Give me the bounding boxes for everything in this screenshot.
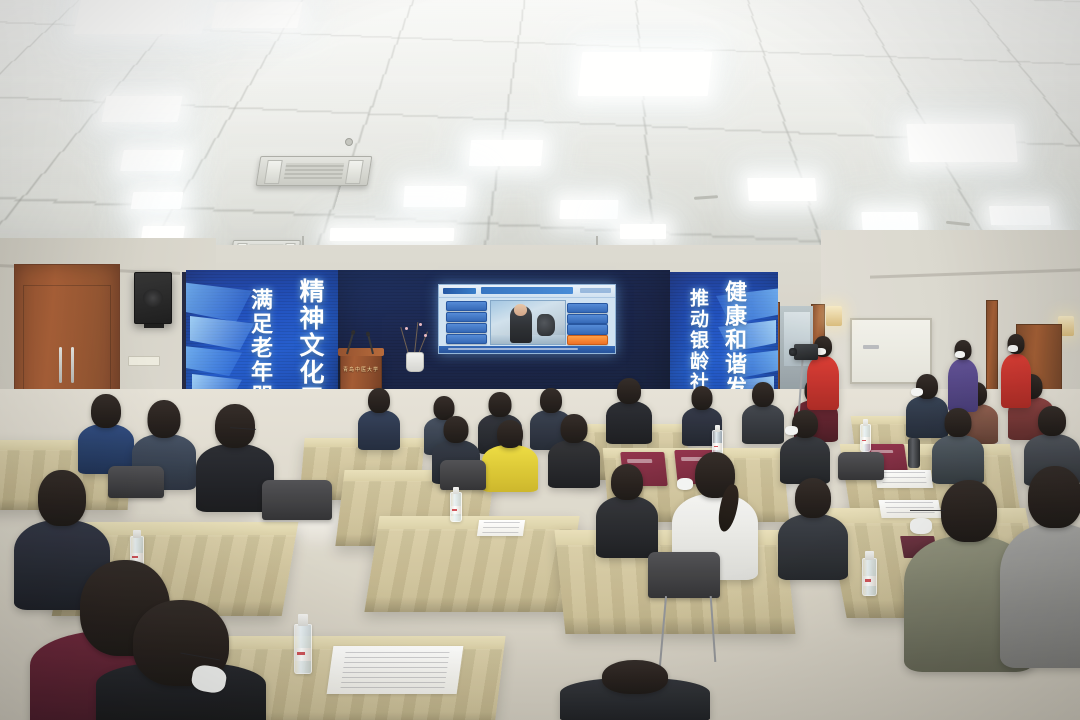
attendee-head	[561, 414, 588, 443]
attendee	[742, 382, 784, 442]
chair-backrest	[838, 452, 884, 480]
attendee-body	[1000, 524, 1080, 668]
attendee-head	[540, 388, 562, 413]
blossom-icon	[405, 327, 408, 330]
attendee-head	[489, 392, 512, 417]
bottle-label	[295, 648, 311, 660]
screen-left-button-1[interactable]	[446, 301, 487, 311]
ceiling-light-panel	[403, 186, 466, 207]
screen-title-bar	[481, 287, 573, 295]
attendee-foreground-right	[560, 660, 710, 720]
attendee-head	[692, 386, 713, 410]
ceiling-light-panel	[211, 2, 303, 28]
attendee-head	[148, 400, 181, 438]
attendee-body	[778, 514, 848, 580]
camera-lens-icon	[789, 348, 797, 356]
eyeglasses	[910, 510, 944, 513]
attendee-head	[611, 464, 643, 500]
ceiling-ac-vent-icon	[256, 156, 373, 186]
screen-header	[439, 285, 615, 298]
attendee-head	[91, 394, 121, 428]
wall-plaque	[128, 356, 160, 366]
chair[interactable]	[440, 460, 486, 490]
attendee-head	[617, 378, 641, 404]
chair-backrest	[108, 466, 164, 498]
attendee-head	[38, 470, 86, 526]
attendee	[606, 378, 652, 442]
ceiling-light-panel	[620, 224, 666, 239]
bottle-label	[861, 437, 870, 444]
bottle-label	[863, 576, 876, 585]
screen-logo-icon	[443, 288, 476, 294]
ceiling-light-panel	[101, 96, 182, 122]
bottle-cap	[133, 530, 141, 538]
screen-footer	[439, 346, 615, 353]
chair[interactable]	[262, 480, 332, 520]
ceiling-light-panel	[861, 212, 918, 230]
screen-meta-bar	[580, 288, 612, 292]
attendee-head	[1028, 466, 1080, 528]
ceiling-light-panel	[906, 124, 1017, 162]
door-handle[interactable]	[59, 347, 62, 383]
door-handle[interactable]	[71, 347, 74, 383]
screen-right-button-1[interactable]	[567, 303, 608, 313]
face-mask	[955, 351, 965, 358]
screen-left-button-3[interactable]	[446, 323, 487, 333]
screen-left-button-4[interactable]	[446, 334, 487, 344]
water-bottle	[862, 558, 877, 596]
ceiling-light-panel	[120, 150, 184, 171]
ceiling-light-panel	[989, 206, 1051, 225]
video-camera-icon	[794, 344, 818, 360]
whiteboard-marking	[863, 345, 879, 349]
attendee-body	[596, 496, 658, 558]
attendee-head	[215, 404, 255, 448]
face-mask	[911, 388, 923, 396]
ceiling-light-panel	[330, 228, 455, 241]
led-graphic-shard	[186, 346, 242, 376]
paper-lines	[482, 522, 521, 534]
ceiling-light-panel	[747, 178, 817, 201]
chair-backrest	[440, 460, 486, 490]
attendee-body	[780, 436, 830, 484]
table-skirt-shadow	[564, 617, 796, 634]
attendee-head	[368, 388, 390, 413]
ceiling-light-panel	[131, 192, 184, 209]
bottle-cap	[863, 419, 869, 425]
face-mask	[1008, 345, 1018, 352]
banner-text-left-1: 精神文化需求	[292, 278, 328, 406]
bottle-label	[713, 443, 722, 450]
screen-right-button-3[interactable]	[567, 324, 608, 334]
attendee-body	[548, 440, 600, 488]
attendee-body	[482, 445, 538, 492]
blossom-icon	[419, 323, 422, 326]
volunteer-red	[1000, 334, 1032, 408]
attendee-head	[945, 408, 972, 437]
face-mask	[785, 426, 798, 435]
attendee-head	[444, 416, 469, 443]
table-skirt-shadow	[364, 597, 566, 612]
attendee	[358, 388, 400, 448]
chair[interactable]	[648, 552, 720, 598]
attendee	[932, 408, 984, 482]
attendee-body	[742, 404, 784, 444]
wall-lamp-icon	[826, 306, 842, 326]
paper-lines	[340, 652, 449, 689]
attendee-body	[932, 435, 984, 484]
chair[interactable]	[108, 466, 164, 498]
handout-paper	[327, 646, 464, 694]
bottle-cap	[865, 551, 873, 560]
water-bottle	[860, 424, 871, 452]
bottle-cap	[453, 487, 459, 494]
screen-footer-text	[448, 348, 578, 350]
volunteer-uniform	[948, 359, 978, 412]
face-mask	[910, 518, 932, 534]
presentation-screen	[438, 284, 616, 354]
ceiling-light-panel	[578, 52, 713, 96]
screen-left-button-2[interactable]	[446, 312, 487, 322]
attendee	[596, 464, 658, 556]
wall-speaker-icon	[134, 272, 172, 324]
attendee	[78, 394, 134, 472]
banner-text-left-2: 满足老年朋友	[244, 288, 276, 404]
table-row	[364, 516, 579, 612]
podium-top-surface	[338, 348, 384, 356]
screen-video-area[interactable]	[490, 300, 566, 346]
led-graphic-shard	[186, 282, 252, 322]
attendee-head	[795, 478, 831, 518]
podium-name-text: 青岛中医大学	[343, 366, 379, 373]
video-object	[537, 314, 555, 336]
chair-backrest	[648, 552, 720, 598]
attendee-head	[602, 660, 668, 694]
attendee	[548, 414, 600, 486]
bottle-cap	[715, 425, 721, 431]
water-bottle	[450, 492, 462, 522]
attendee-head	[941, 480, 997, 542]
attendee-body	[358, 410, 400, 450]
volunteer-purple	[947, 340, 979, 412]
attendee	[778, 478, 848, 578]
attendee-body	[606, 401, 652, 444]
bottle-label	[451, 506, 461, 513]
ac-vent-louvers	[284, 163, 344, 180]
attendee-head	[1038, 406, 1066, 436]
flower-vase	[406, 352, 424, 372]
attendee-grey-hoodie	[1000, 466, 1080, 666]
attendee-foreground	[96, 600, 266, 720]
video-person-face	[514, 304, 527, 315]
attendee-head	[752, 382, 774, 407]
volunteer-vest	[1001, 354, 1031, 408]
chair-backrest	[262, 480, 332, 520]
water-bottle	[294, 624, 312, 674]
attendee-head	[497, 420, 523, 448]
sprinkler-head-icon	[345, 138, 353, 146]
blossom-icon	[424, 334, 427, 337]
face-mask	[677, 478, 693, 490]
bottle-cap	[298, 614, 308, 626]
ceiling-light-panel	[469, 140, 543, 166]
conference-hall-photo: 精神文化需求 满足老年朋友 健康和谐发展 推动银龄	[0, 0, 1080, 720]
banner-text-right-2: 推动银龄社	[684, 288, 711, 392]
screen-primary-button[interactable]	[567, 335, 608, 345]
ceiling-light-panel	[73, 0, 210, 34]
camera-operator-vest	[807, 356, 839, 410]
screen-right-button-2[interactable]	[567, 314, 608, 324]
attendee	[780, 410, 830, 482]
handout-paper	[477, 520, 525, 536]
thermos-flask	[908, 438, 920, 468]
chair[interactable]	[838, 452, 884, 480]
ceiling-light-panel	[560, 200, 619, 219]
attendee-yellow	[482, 420, 538, 490]
